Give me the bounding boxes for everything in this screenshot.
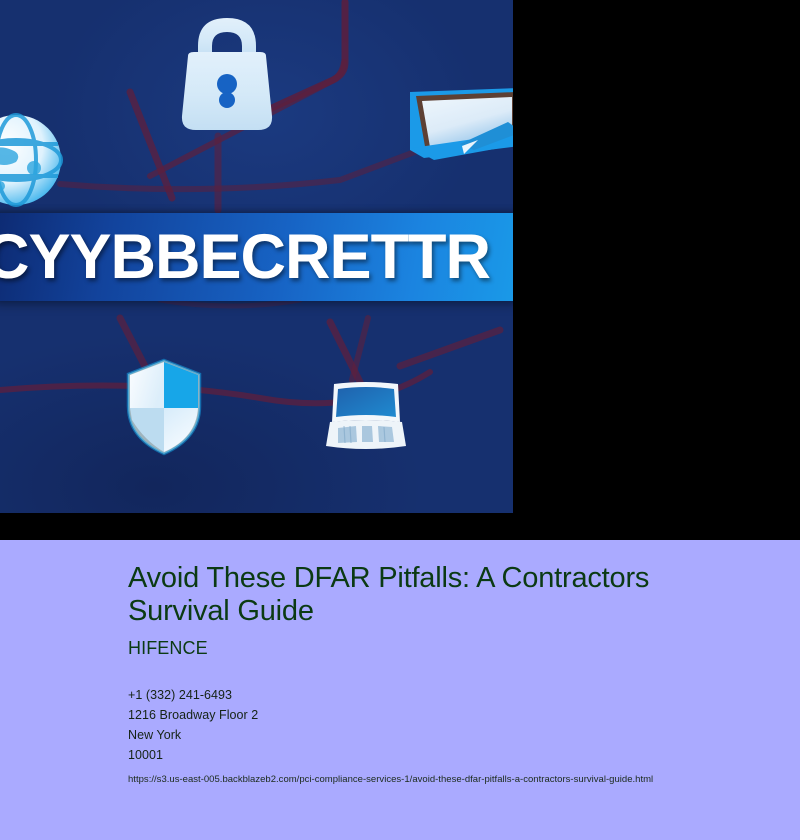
- contact-city: New York: [128, 725, 740, 745]
- contact-zip: 10001: [128, 745, 740, 765]
- contact-phone[interactable]: +1 (332) 241-6493: [128, 685, 740, 705]
- hero-canvas: CYYBBECRETTR: [0, 0, 800, 540]
- page-title: Avoid These DFAR Pitfalls: A Contractors…: [128, 562, 738, 628]
- contact-street: 1216 Broadway Floor 2: [128, 705, 740, 725]
- info-panel: Avoid These DFAR Pitfalls: A Contractors…: [0, 540, 800, 840]
- hero-image: CYYBBECRETTR: [0, 0, 513, 513]
- hero-banner-text: CYYBBECRETTR: [0, 226, 490, 289]
- laptop-icon: [326, 380, 406, 452]
- monitor-icon: [404, 88, 513, 174]
- padlock-icon: [168, 12, 286, 138]
- globe-icon: [0, 112, 64, 208]
- brand-name: HIFENCE: [128, 638, 740, 659]
- hero-banner: CYYBBECRETTR: [0, 213, 513, 301]
- info-content: Avoid These DFAR Pitfalls: A Contractors…: [0, 540, 800, 785]
- contact-block: +1 (332) 241-6493 1216 Broadway Floor 2 …: [128, 685, 740, 765]
- shield-icon: [126, 358, 202, 456]
- source-url-link[interactable]: https://s3.us-east-005.backblazeb2.com/p…: [128, 774, 740, 785]
